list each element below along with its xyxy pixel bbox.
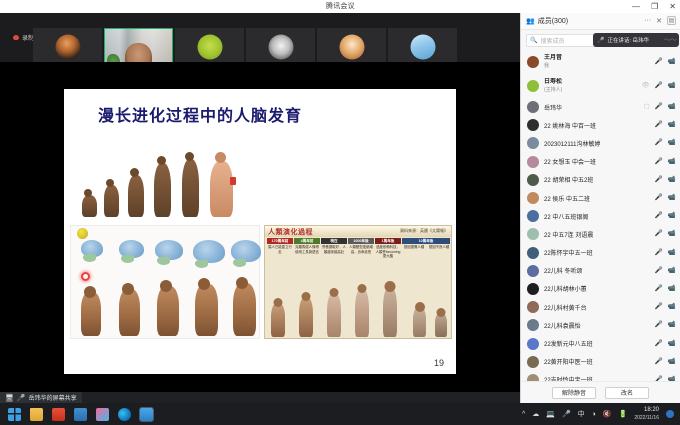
evolution-march-image [78,145,268,217]
avatar [268,35,293,60]
tencent-meeting-window: 腾讯会议 — ❐ ✕ 录制中 🎙 丁国勇 🎙 岳 [0,0,680,425]
battery-icon[interactable]: 🔋 [619,410,628,418]
list-item[interactable]: 22儿科袁晨怡 🎤📹 [521,316,680,334]
taskbar-icons [8,408,153,421]
mic-icon[interactable]: 🎤 [562,410,571,418]
clock-time: 18:20 [634,406,659,414]
list-item[interactable]: 22陈怀宇中五一班 🎤📹 [521,244,680,262]
list-item[interactable]: 22 女想玉 中会一班 🎤📹 [521,153,680,171]
edge-icon[interactable] [118,408,131,421]
participant-name: 22 姚林海 中百一班 [544,124,596,130]
list-item[interactable]: 22发新元中八五班 🎤📹 [521,334,680,352]
video-off-icon[interactable]: 📹 [668,304,676,311]
search-placeholder: 搜索成员 [540,36,564,45]
avatar [410,35,435,60]
start-icon[interactable] [8,408,21,421]
list-item[interactable]: 22黄开阳中医一班 🎤📹 [521,353,680,371]
avatar [527,56,539,68]
participant-name: 日寿松 [544,78,562,86]
search-icon: 🔍 [530,37,537,44]
office-icon[interactable] [52,408,65,421]
photos-icon[interactable] [96,408,109,421]
chart-title: 人類演化過程 [268,227,313,237]
mic-muted-icon[interactable]: 🎤 [655,158,663,165]
video-off-icon[interactable]: 📹 [668,195,676,202]
mic-muted-icon[interactable]: 🎤 [655,249,663,256]
participant-name: 2023012111沟林敏婷 [544,142,600,148]
chevron-up-icon[interactable]: ^ [522,411,525,418]
screen-share-badge: 🖥 🎤 岳玮华的屏幕共享 [0,392,82,403]
avatar [527,119,539,131]
mic-muted-icon[interactable]: 🎤 [655,322,663,329]
video-off-icon[interactable]: 📹 [668,59,676,66]
chart-column-text: 猿人已能直立行走 [267,245,293,259]
mic-muted-icon[interactable]: 🎤 [655,286,663,293]
avatar [527,210,539,222]
avatar [55,35,80,60]
list-item[interactable]: 日寿松 (主持人) 👁 🎤 📹 [521,74,680,98]
lemon-icon [77,228,88,239]
volume-mute-icon[interactable]: 🔇 [603,410,612,418]
chart-column-text: 過度依賴科技，人類會becoming更大腦 [375,245,401,259]
system-tray: ^ ☁ 💻 🎤 中 ◑ 🔇 🔋 18:20 2022/11/16 [522,406,674,422]
chart-band: 1萬年後 [375,238,401,244]
windows-taskbar: ^ ☁ 💻 🎤 中 ◑ 🔇 🔋 18:20 2022/11/16 [0,403,680,425]
clock-date: 2022/11/16 [634,414,659,422]
video-off-icon[interactable]: 📹 [668,140,676,147]
participant-controls: ▢ 🎤 📹 [644,104,676,111]
participant-name: 22 女想玉 中会一班 [544,160,596,166]
minimize-button[interactable]: — [632,3,640,11]
chart-band: 1000年後 [348,238,374,244]
human-evolution-chart-image: 人類演化過程 資料來源：英國《太陽報》 170萬年前 4萬年前 現在 1000年… [264,225,452,339]
chart-figures [267,277,451,337]
wifi-icon[interactable]: ◑ [592,411,596,418]
video-off-icon[interactable]: 📹 [668,104,676,111]
screen-icon: 🖥 [5,394,14,402]
mic-muted-icon[interactable]: 🎤 [655,340,663,347]
eye-icon[interactable]: 👁 [642,83,650,90]
participant-name: 22发新元中八五班 [544,342,593,348]
waveform-icon: 〜〜 [664,35,676,45]
chart-outcome-text: 基因不良人種 [427,245,451,259]
more-options-icon[interactable]: ··· [644,17,651,24]
mic-muted-icon[interactable]: 🎤 [655,268,663,275]
list-item[interactable]: 22儿科 冬听颂 🎤📹 [521,262,680,280]
avatar [527,338,539,350]
video-filmstrip: 录制中 🎙 丁国勇 🎙 岳玮华 主 [0,13,520,62]
mic-muted-icon[interactable]: 🎤 [655,177,663,184]
video-off-icon[interactable]: 📹 [668,249,676,256]
mic-muted-icon[interactable]: 🎤 [655,231,663,238]
cloud-icon[interactable]: ☁ [532,410,539,418]
window-titlebar: 腾讯会议 — ❐ ✕ [0,0,680,13]
video-off-icon[interactable]: 📹 [668,158,676,165]
window-controls: — ❐ ✕ [632,0,676,13]
chart-band: 170萬年前 [267,238,293,244]
mic-muted-icon[interactable]: 🎤 [655,195,663,202]
participant-name: 22 胡荣相 中五2班 [544,178,593,184]
chart-source: 資料來源：英國《太陽報》 [400,228,448,234]
avatar [527,228,539,240]
chart-outcome-text: 基因優異人種 [402,245,426,259]
mic-icon: 🎤 [17,394,26,402]
avatar [527,247,539,259]
list-item[interactable]: 2023012111沟林敏婷 🎤📹 [521,134,680,152]
video-off-icon[interactable]: 📹 [668,177,676,184]
mic-muted-icon[interactable]: 🎤 [655,59,663,66]
tencent-meeting-icon[interactable] [140,408,153,421]
slide-page-number: 19 [434,358,444,368]
avatar [527,137,539,149]
list-item[interactable]: 22 胡荣相 中五2班 🎤📹 [521,171,680,189]
participants-count-label: 成员(300) [538,16,568,26]
share-screen-icon[interactable]: ▢ [644,104,650,111]
mail-icon[interactable] [74,408,87,421]
avatar [527,319,539,331]
video-off-icon[interactable]: 📹 [668,268,676,275]
list-item[interactable]: 22 中五7连 刘语晨 🎤📹 [521,225,680,243]
participant-name: 岳玮华 [544,106,562,112]
list-item[interactable]: 22儿科村黄千台 🎤📹 [521,298,680,316]
avatar [527,301,539,313]
avatar [339,35,364,60]
speaking-now-toast: 🎤 正在讲话: 岳玮华 〜〜 [593,33,679,47]
mic-muted-icon[interactable]: 🎤 [655,304,663,311]
participants-panel-footer: 解除静音 改名 [521,381,680,403]
video-off-icon[interactable]: 📹 [668,340,676,347]
avatar [527,356,539,368]
video-off-icon[interactable]: 📹 [668,213,676,220]
participant-name: 22 中五7连 刘语晨 [544,233,593,239]
video-off-icon[interactable]: 📹 [668,231,676,238]
video-off-icon[interactable]: 📹 [668,83,676,90]
list-item[interactable]: 王月音 我 🎤 📹 [521,50,680,74]
participant-name: 王月音 [544,54,562,62]
chart-columns: 猿人已能直立行走 克羅馬儂人懂得使用工具與語言 營養攝取好，人類越來越高壯 人類… [267,245,451,259]
participants-list[interactable]: 王月音 我 🎤 📹 日寿松 (主持人) 👁 🎤 📹 [521,50,680,388]
expand-panel-icon[interactable]: ▤ [667,16,676,25]
chart-column-text: 營養攝取好，人類越來越高壯 [321,245,347,259]
avatar [527,101,539,113]
avatar [527,192,539,204]
mic-muted-icon[interactable]: 🎤 [655,122,663,129]
video-off-icon[interactable]: 📹 [668,358,676,365]
mic-muted-icon[interactable]: 🎤 [655,213,663,220]
notification-icon[interactable] [666,410,674,418]
avatar [527,156,539,168]
participant-role: (主持人) [544,86,562,94]
avatar [197,35,222,60]
participants-panel: 👥 成员(300) ··· ✕ ▤ 🔍 搜索成员 🎤 正在讲话: 岳玮华 〜〜 [520,13,680,403]
unmute-all-button[interactable]: 解除静音 [552,387,596,399]
list-item[interactable]: 岳玮华 ▢ 🎤 📹 [521,98,680,116]
mic-muted-icon[interactable]: 🎤 [655,140,663,147]
mic-muted-icon[interactable]: 🎤 [655,83,663,90]
close-button[interactable]: ✕ [669,3,676,11]
chart-column-text: 人類體型連續增高，壽命延長 [348,245,374,259]
avatar [527,174,539,186]
maximize-button[interactable]: ❐ [651,3,658,11]
window-title: 腾讯会议 [326,1,355,11]
network-icon[interactable]: 💻 [546,410,555,418]
taskbar-clock[interactable]: 18:20 2022/11/16 [634,406,659,422]
people-icon: 👥 [526,17,535,25]
chart-bands: 170萬年前 4萬年前 現在 1000年後 1萬年後 10萬年後 [267,238,450,244]
chart-band: 4萬年前 [294,238,320,244]
participant-name: 22儿科 冬听颂 [544,269,582,275]
avatar [527,80,539,92]
mic-on-icon[interactable]: 🎤 [655,104,663,111]
chart-header: 人類演化過程 資料來源：英國《太陽報》 [265,226,451,237]
chart-column-text: 克羅馬儂人懂得使用工具與語言 [294,245,320,259]
avatar [527,283,539,295]
participant-name: 22儿科胡林小蕙 [544,287,587,293]
chart-band: 現在 [321,238,347,244]
video-off-icon[interactable]: 📹 [668,322,676,329]
file-explorer-icon[interactable] [30,408,43,421]
participant-name: 22陈怀宇中五一班 [544,251,593,257]
participant-controls: 👁 🎤 📹 [642,83,676,90]
participant-role: 我 [544,62,562,70]
mic-muted-icon: 🎤 [597,37,604,44]
panel-header-actions: ··· ✕ ▤ [644,16,676,25]
shared-screen-stage: 漫长进化过程中的人脑发育 [0,62,520,392]
video-off-icon[interactable]: 📹 [668,286,676,293]
participant-controls: 🎤 📹 [655,59,676,66]
screen-share-label: 岳玮华的屏幕共享 [29,393,77,402]
avatar [527,265,539,277]
list-item[interactable]: 22 侯乐 中五二班 🎤📹 [521,189,680,207]
list-item[interactable]: 22 中八五班银阁 🎤📹 [521,207,680,225]
participant-name: 22 中八五班银阁 [544,215,588,221]
list-item[interactable]: 22儿科胡林小蕙 🎤📹 [521,280,680,298]
slide-title: 漫长进化过程中的人脑发育 [98,102,302,126]
participant-name: 22儿科袁晨怡 [544,324,581,330]
rename-button[interactable]: 改名 [605,387,649,399]
participant-name: 22黄开阳中医一班 [544,360,593,366]
brain-evolution-image [70,225,260,339]
laser-pointer-icon [81,272,90,281]
chart-band: 10萬年後 [402,238,450,244]
mic-muted-icon[interactable]: 🎤 [655,358,663,365]
presentation-slide: 漫长进化过程中的人脑发育 [64,89,456,374]
speaking-now-text: 正在讲话: 岳玮华 [607,36,649,44]
video-off-icon[interactable]: 📹 [668,122,676,129]
participants-panel-header: 👥 成员(300) ··· ✕ ▤ [521,13,680,30]
participant-name: 22儿科村黄千台 [544,306,587,312]
participant-name: 22 侯乐 中五二班 [544,197,590,203]
list-item[interactable]: 22 姚林海 中百一班 🎤📹 [521,116,680,134]
ime-icon[interactable]: 中 [578,409,585,419]
close-panel-icon[interactable]: ✕ [656,17,662,25]
recording-dot-icon [13,35,19,40]
